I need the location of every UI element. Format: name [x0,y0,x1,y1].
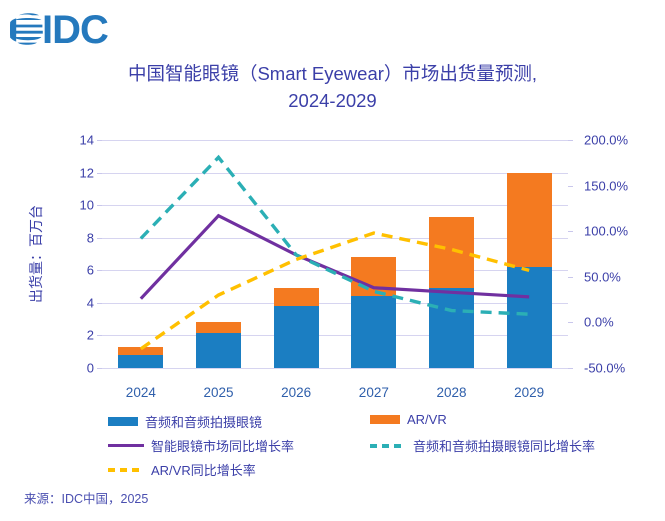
chart-title-line2: 2024-2029 [60,87,605,114]
source-note: 来源：IDC中国，2025 [24,488,148,507]
x-tick-label: 2024 [126,385,156,400]
legend-swatch-bar [370,415,400,424]
y-tick-label-left: 8 [87,230,94,245]
idc-logo: IDC [10,9,140,51]
legend-swatch-dashed-line [108,468,144,472]
y-axis-title-left-text: 出货量：百万台 [26,205,46,303]
x-tick-label: 2028 [436,385,466,400]
legend-swatch-bar [108,417,138,426]
y-tick-label-left: 14 [80,133,94,148]
y-tick-mark-right [568,140,573,141]
legend-item[interactable]: 音频和音频拍摄眼镜 [108,412,262,431]
x-tick-label: 2027 [359,385,389,400]
chart-area: 出货量：百万台 02468101214 -50.0%0.0%50.0%100.0… [0,130,665,395]
idc-globe-icon [10,12,44,48]
y-tick-label-left: 2 [87,328,94,343]
y-tick-mark-right [568,322,573,323]
legend-item[interactable]: AR/VR同比增长率 [108,460,256,479]
legend-label: 音频和音频拍摄眼镜同比增长率 [413,436,595,455]
y-tick-label-right: 200.0% [584,133,628,148]
gridline [102,368,568,369]
line-series[interactable] [141,216,529,299]
y-tick-label-right: 50.0% [584,269,621,284]
x-tick-label: 2026 [281,385,311,400]
legend-item[interactable]: 智能眼镜市场同比增长率 [108,436,294,455]
legend-label: 音频和音频拍摄眼镜 [145,412,262,431]
chart-legend: 音频和音频拍摄眼镜AR/VR智能眼镜市场同比增长率音频和音频拍摄眼镜同比增长率A… [0,408,665,478]
chart-title-line1: 中国智能眼镜（Smart Eyewear）市场出货量预测, [60,60,605,87]
legend-item[interactable]: AR/VR [370,412,447,427]
y-tick-mark-right [568,277,573,278]
plot-area: 02468101214 -50.0%0.0%50.0%100.0%150.0%2… [102,140,568,368]
y-tick-label-left: 12 [80,165,94,180]
legend-label: AR/VR [407,412,447,427]
lines-layer [102,140,568,368]
y-tick-mark-left [97,368,102,369]
legend-item[interactable]: 音频和音频拍摄眼镜同比增长率 [370,436,595,455]
y-tick-label-right: 100.0% [584,224,628,239]
idc-logo-text: IDC [42,12,108,48]
y-tick-mark-right [568,231,573,232]
line-series[interactable] [141,233,529,349]
y-tick-label-left: 6 [87,263,94,278]
chart-title: 中国智能眼镜（Smart Eyewear）市场出货量预测, 2024-2029 [60,60,605,114]
legend-swatch-dashed-line [370,444,406,448]
y-tick-label-right: 0.0% [584,315,614,330]
y-tick-label-left: 0 [87,361,94,376]
y-tick-label-left: 10 [80,198,94,213]
y-axis-title-left: 出货量：百万台 [26,140,46,368]
y-tick-mark-right [568,368,573,369]
y-tick-mark-right [568,186,573,187]
x-tick-label: 2029 [514,385,544,400]
y-tick-label-left: 4 [87,295,94,310]
y-tick-label-right: -50.0% [584,361,625,376]
x-tick-label: 2025 [203,385,233,400]
y-tick-label-right: 150.0% [584,178,628,193]
legend-label: 智能眼镜市场同比增长率 [151,436,294,455]
legend-swatch-line [108,444,144,447]
legend-label: AR/VR同比增长率 [151,460,256,479]
